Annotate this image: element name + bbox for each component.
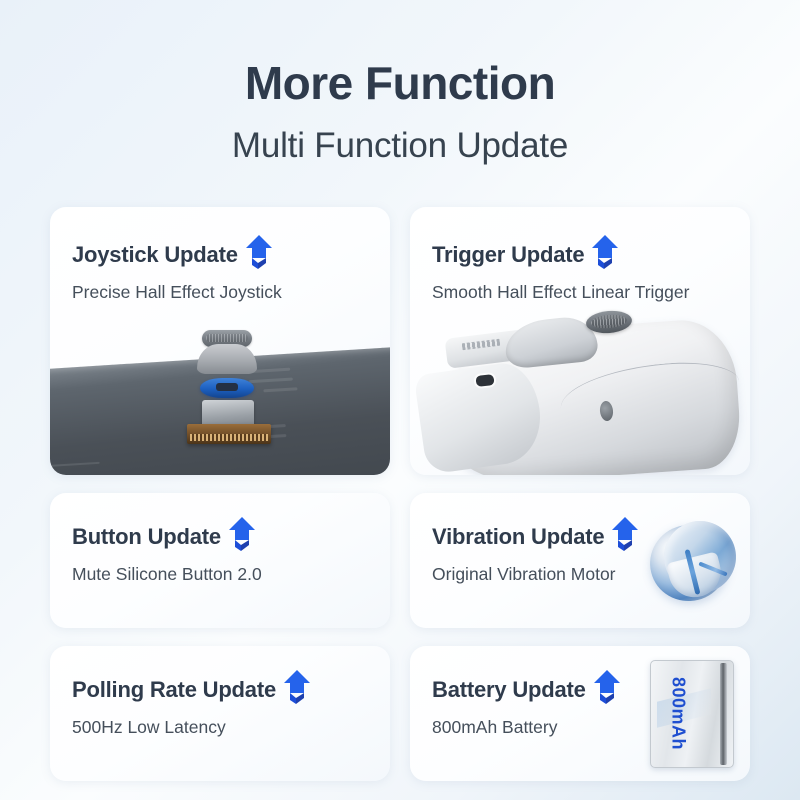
card-title-battery: Battery Update [432,677,586,703]
card-title-trigger: Trigger Update [432,242,584,268]
page-title: More Function [0,58,800,110]
page-header: More Function Multi Function Update [0,0,800,166]
card-text-battery: Battery Update 800mAh Battery [410,646,750,738]
card-title-row-vibration: Vibration Update [432,523,750,551]
promo-page: More Function Multi Function Update Joys… [0,0,800,800]
card-text-button: Button Update Mute Silicone Button 2.0 [50,493,390,585]
card-subtitle-trigger: Smooth Hall Effect Linear Trigger [432,282,750,303]
page-subtitle: Multi Function Update [0,126,800,166]
card-title-joystick: Joystick Update [72,242,238,268]
card-subtitle-button: Mute Silicone Button 2.0 [72,564,390,585]
card-subtitle-joystick: Precise Hall Effect Joystick [72,282,390,303]
up-arrow-icon [592,235,618,269]
hall-effect-ring [200,378,254,398]
joystick-module-image [50,320,390,475]
feature-card-vibration[interactable]: Vibration Update Original Vibration Moto… [410,493,750,628]
feature-card-polling-rate[interactable]: Polling Rate Update 500Hz Low Latency [50,646,390,781]
feature-card-trigger[interactable]: Trigger Update Smooth Hall Effect Linear… [410,207,750,475]
up-arrow-icon [229,517,255,551]
card-subtitle-polling-rate: 500Hz Low Latency [72,717,390,738]
feature-card-battery[interactable]: Battery Update 800mAh Battery 800mAh [410,646,750,781]
up-arrow-icon [612,517,638,551]
card-title-row-button: Button Update [72,523,390,551]
card-title-vibration: Vibration Update [432,524,604,550]
card-title-row-polling-rate: Polling Rate Update [72,676,390,704]
card-title-row-battery: Battery Update [432,676,750,704]
up-arrow-icon [246,235,272,269]
card-title-row-joystick: Joystick Update [72,241,390,269]
feature-card-grid: Joystick Update Precise Hall Effect Joys… [50,207,750,781]
card-subtitle-vibration: Original Vibration Motor [432,564,750,585]
joystick-pcb [187,424,271,444]
card-subtitle-battery: 800mAh Battery [432,717,750,738]
card-text-polling-rate: Polling Rate Update 500Hz Low Latency [50,646,390,738]
feature-card-button[interactable]: Button Update Mute Silicone Button 2.0 [50,493,390,628]
card-text-vibration: Vibration Update Original Vibration Moto… [410,493,750,585]
card-text-joystick: Joystick Update Precise Hall Effect Joys… [50,207,390,303]
card-title-polling-rate: Polling Rate Update [72,677,276,703]
card-text-trigger: Trigger Update Smooth Hall Effect Linear… [410,207,750,303]
up-arrow-icon [284,670,310,704]
controller-trigger-image [410,305,750,475]
up-arrow-icon [594,670,620,704]
card-title-row-trigger: Trigger Update [432,241,750,269]
thumbstick-dome [197,344,257,374]
feature-card-joystick[interactable]: Joystick Update Precise Hall Effect Joys… [50,207,390,475]
card-title-button: Button Update [72,524,221,550]
